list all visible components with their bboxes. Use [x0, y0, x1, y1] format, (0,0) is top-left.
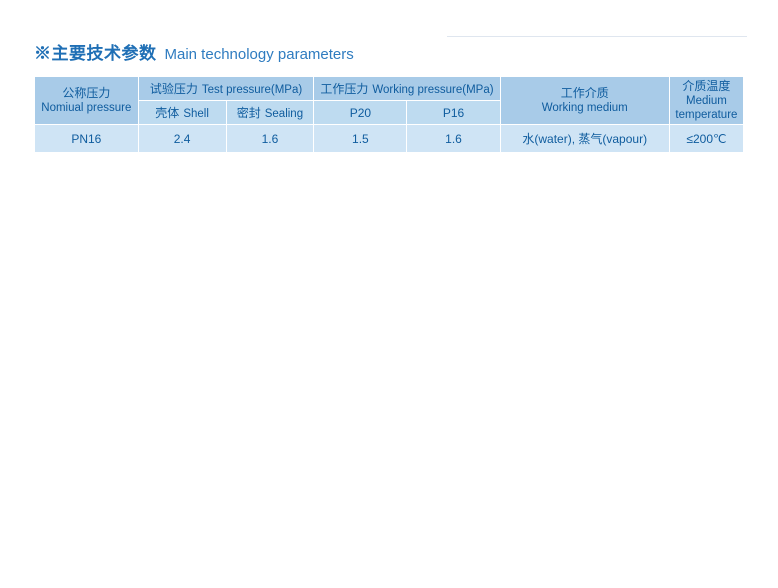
header-working-pressure: 工作压力Working pressure(MPa): [314, 77, 500, 101]
top-divider-line: [447, 36, 747, 37]
table-header-row-1: 公称压力 Nomiual pressure 试验压力Test pressure(…: [35, 77, 744, 101]
technology-parameters-table: 公称压力 Nomiual pressure 试验压力Test pressure(…: [34, 76, 744, 153]
subheader-p16: P16: [407, 101, 500, 125]
subheader-shell-cn: 壳体: [155, 106, 179, 120]
subheader-p20: P20: [314, 101, 407, 125]
header-nominal-pressure: 公称压力 Nomiual pressure: [35, 77, 139, 125]
page-title-en: Main technology parameters: [165, 46, 354, 63]
subheader-sealing: 密封Sealing: [226, 101, 314, 125]
page-title-cn: 主要技术参数: [52, 44, 157, 63]
cell-sealing: 1.6: [226, 125, 314, 153]
subheader-shell: 壳体Shell: [138, 101, 226, 125]
page-title-marker: ※: [34, 44, 52, 63]
subheader-sealing-en: Sealing: [265, 108, 303, 120]
page-title: ※主要技术参数Main technology parameters: [34, 45, 354, 63]
header-test-pressure-cn: 试验压力: [150, 82, 198, 96]
cell-working-medium: 水(water), 蒸气(vapour): [500, 125, 669, 153]
header-working-medium-cn: 工作介质: [501, 86, 669, 101]
subheader-sealing-cn: 密封: [237, 106, 261, 120]
header-test-pressure-en: Test pressure(MPa): [202, 84, 302, 96]
cell-nominal-pressure: PN16: [35, 125, 139, 153]
table-row: PN16 2.4 1.6 1.5 1.6 水(water), 蒸气(vapour…: [35, 125, 744, 153]
header-working-medium-en: Working medium: [501, 101, 669, 115]
header-medium-temperature-cn: 介质温度: [670, 79, 743, 94]
header-medium-temperature-en2: temperature: [670, 108, 743, 122]
cell-p16: 1.6: [407, 125, 500, 153]
header-medium-temperature-en1: Medium: [670, 94, 743, 108]
header-medium-temperature: 介质温度 Medium temperature: [669, 77, 743, 125]
header-test-pressure: 试验压力Test pressure(MPa): [138, 77, 314, 101]
header-nominal-pressure-en: Nomiual pressure: [35, 101, 138, 115]
cell-shell: 2.4: [138, 125, 226, 153]
cell-medium-temperature: ≤200℃: [669, 125, 743, 153]
header-nominal-pressure-cn: 公称压力: [35, 86, 138, 101]
header-working-pressure-en: Working pressure(MPa): [372, 84, 493, 96]
subheader-shell-en: Shell: [183, 108, 209, 120]
header-working-pressure-cn: 工作压力: [320, 82, 368, 96]
cell-p20: 1.5: [314, 125, 407, 153]
header-working-medium: 工作介质 Working medium: [500, 77, 669, 125]
